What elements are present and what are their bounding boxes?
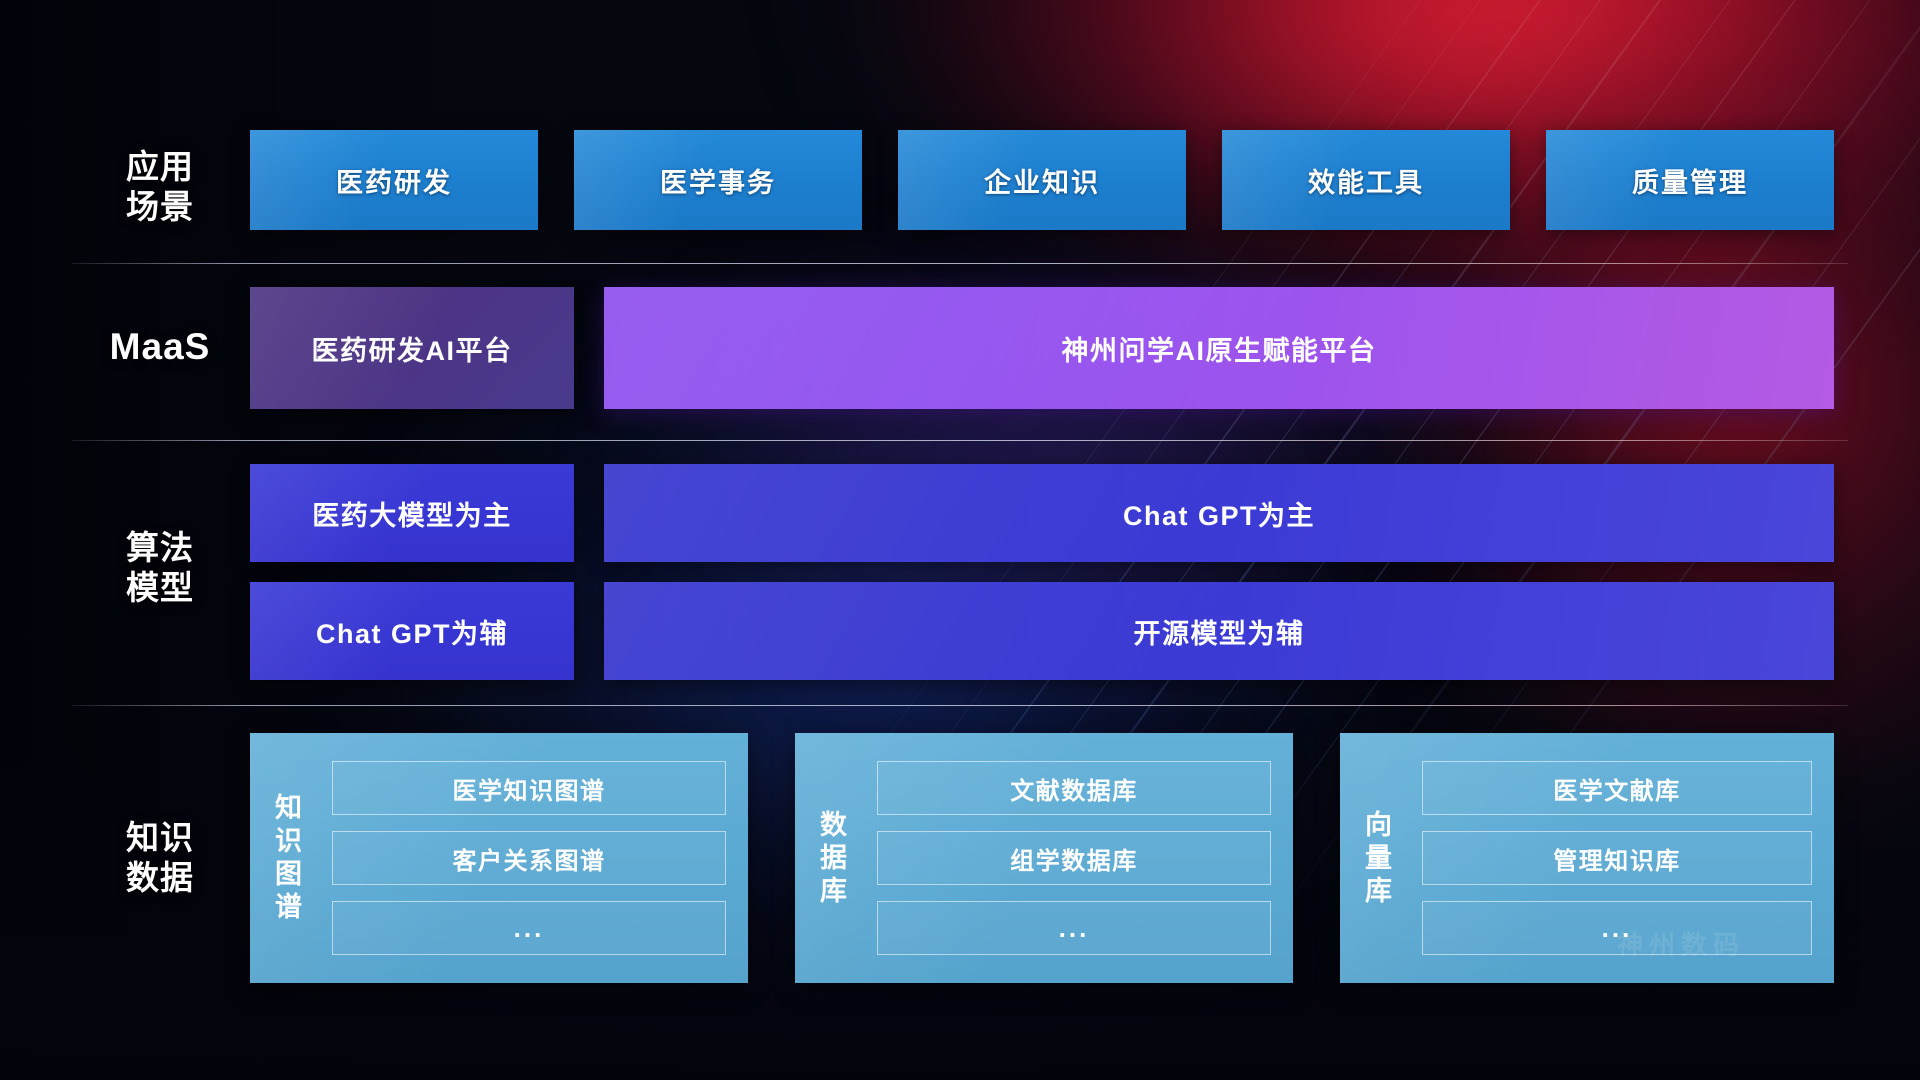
scenario-label-4: 效能工具: [1308, 161, 1424, 200]
divider-1: [72, 263, 1848, 264]
maas-platform-label-left: 医药研发AI平台: [312, 329, 513, 368]
knowledge-card-items-1: 医学知识图谱 客户关系图谱 ...: [328, 761, 748, 955]
row-knowledge-data: 知识 数据 知 识 图 谱 医学知识图谱 客户关系图谱 ... 数 据 库 文献…: [0, 733, 1920, 983]
knowledge-item-2-2[interactable]: 组学数据库: [877, 831, 1271, 885]
maas-platform-box-right[interactable]: 神州问学AI原生赋能平台: [604, 287, 1834, 409]
knowledge-item-1-3[interactable]: ...: [332, 901, 726, 955]
algo-box-secondary-left[interactable]: Chat GPT为辅: [250, 582, 574, 680]
algo-label-primary-left: 医药大模型为主: [312, 494, 512, 533]
scenario-label-3: 企业知识: [984, 161, 1100, 200]
knowledge-item-2-3[interactable]: ...: [877, 901, 1271, 955]
algo-box-secondary-right[interactable]: 开源模型为辅: [604, 582, 1834, 680]
knowledge-card-items-3: 医学文献库 管理知识库 ...: [1418, 761, 1834, 955]
knowledge-item-3-1[interactable]: 医学文献库: [1422, 761, 1812, 815]
divider-3: [72, 705, 1848, 706]
knowledge-item-3-2[interactable]: 管理知识库: [1422, 831, 1812, 885]
knowledge-card-category-3: 向 量 库: [1340, 809, 1418, 908]
scenario-box-4[interactable]: 效能工具: [1222, 130, 1510, 230]
algo-label-secondary-right: 开源模型为辅: [1134, 612, 1305, 651]
algo-label-primary-right: Chat GPT为主: [1123, 494, 1315, 533]
knowledge-item-1-2[interactable]: 客户关系图谱: [332, 831, 726, 885]
knowledge-card-1[interactable]: 知 识 图 谱 医学知识图谱 客户关系图谱 ...: [250, 733, 748, 983]
knowledge-card-items-2: 文献数据库 组学数据库 ...: [873, 761, 1293, 955]
scenario-label-2: 医学事务: [660, 161, 776, 200]
scenario-box-3[interactable]: 企业知识: [898, 130, 1186, 230]
scenario-label-1: 医药研发: [336, 161, 452, 200]
knowledge-card-category-2: 数 据 库: [795, 809, 873, 908]
row-algorithm-models: 算法 模型 医药大模型为主 Chat GPT为主 Chat GPT为辅 开源模型…: [0, 464, 1920, 680]
knowledge-item-1-1[interactable]: 医学知识图谱: [332, 761, 726, 815]
row-label-knowledge-data: 知识 数据: [90, 818, 230, 898]
maas-platform-box-left[interactable]: 医药研发AI平台: [250, 287, 574, 409]
row-maas: MaaS 医药研发AI平台 神州问学AI原生赋能平台: [0, 287, 1920, 409]
row-label-maas: MaaS: [90, 327, 230, 367]
algo-box-primary-left[interactable]: 医药大模型为主: [250, 464, 574, 562]
maas-platform-label-right: 神州问学AI原生赋能平台: [1062, 329, 1377, 368]
knowledge-card-2[interactable]: 数 据 库 文献数据库 组学数据库 ...: [795, 733, 1293, 983]
knowledge-item-2-1[interactable]: 文献数据库: [877, 761, 1271, 815]
row-label-algorithm-models: 算法 模型: [90, 528, 230, 608]
algo-box-primary-right[interactable]: Chat GPT为主: [604, 464, 1834, 562]
algo-label-secondary-left: Chat GPT为辅: [316, 612, 508, 651]
scenario-box-1[interactable]: 医药研发: [250, 130, 538, 230]
row-application-scenarios: 应用 场景 医药研发 医学事务 企业知识 效能工具 质量管理: [0, 130, 1920, 230]
knowledge-item-3-3[interactable]: ...: [1422, 901, 1812, 955]
scenario-label-5: 质量管理: [1632, 161, 1748, 200]
architecture-diagram: 应用 场景 医药研发 医学事务 企业知识 效能工具 质量管理 MaaS 医药研发…: [0, 0, 1920, 1080]
knowledge-card-category-1: 知 识 图 谱: [250, 792, 328, 924]
row-label-application-scenarios: 应用 场景: [90, 147, 230, 227]
scenario-box-5[interactable]: 质量管理: [1546, 130, 1834, 230]
divider-2: [72, 440, 1848, 441]
knowledge-card-3[interactable]: 向 量 库 医学文献库 管理知识库 ...: [1340, 733, 1834, 983]
scenario-box-2[interactable]: 医学事务: [574, 130, 862, 230]
